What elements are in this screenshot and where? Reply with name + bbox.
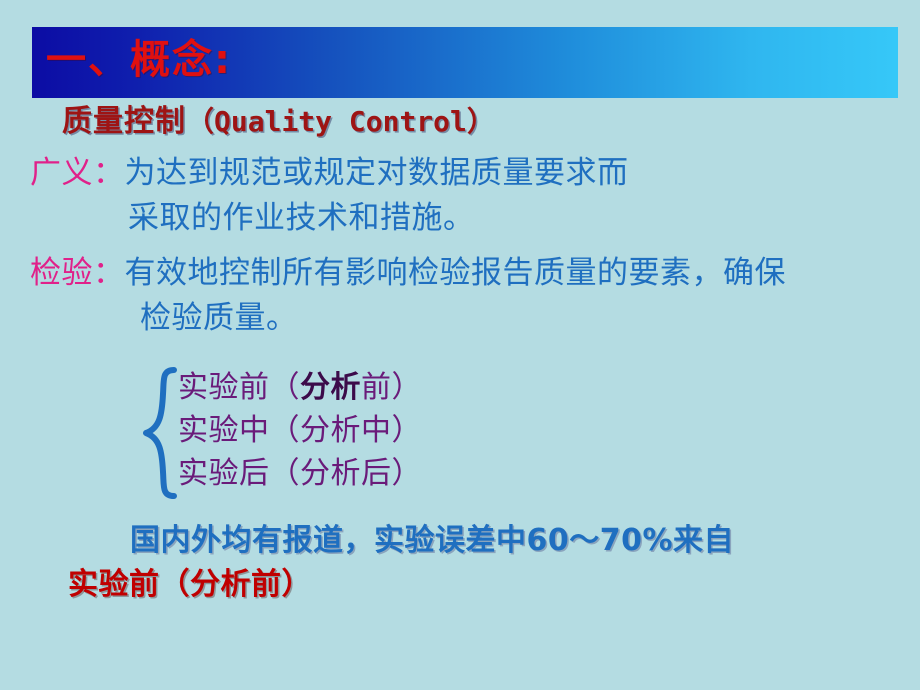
definition-broad-label: 广义： [30, 155, 125, 191]
phase-item-mid-text: 实验中（ [178, 413, 300, 448]
definition-inspection-label: 检验： [30, 255, 125, 291]
phase-item-pre-text: 实验前（ [178, 370, 300, 405]
conclusion-blue: 国内外均有报道，实验误差中60～70%来自 [130, 526, 734, 556]
slide-canvas: 一、概念: 质量控制（Quality Control） 广义：为达到规范或规定对… [0, 0, 920, 690]
phase-item-mid-post: 分析中） [300, 413, 422, 448]
definition-inspection-line2: 检验质量。 [140, 303, 298, 334]
definition-inspection-line1: 有效地控制所有影响检验报告质量的要素，确保 [125, 255, 787, 291]
phase-item-post-post: 分析后） [300, 456, 422, 491]
phase-brace-group: 实验前（分析前） 实验中（分析中） 实验后（分析后） [140, 366, 560, 501]
title-banner: 一、概念: [32, 27, 898, 98]
phase-item-pre: 实验前（分析前） [178, 366, 422, 409]
qc-heading-en: Quality Control [214, 105, 467, 138]
phase-list: 实验前（分析前） 实验中（分析中） 实验后（分析后） [178, 366, 422, 495]
definition-broad-line1: 为达到规范或规定对数据质量要求而 [125, 155, 629, 191]
definition-broad-line2: 采取的作业技术和措施。 [128, 203, 475, 234]
definition-broad: 广义：为达到规范或规定对数据质量要求而 [30, 158, 629, 189]
qc-heading-close-paren: ） [467, 105, 495, 138]
phase-item-post: 实验后（分析后） [178, 452, 422, 495]
phase-item-post-text: 实验后（ [178, 456, 300, 491]
qc-heading: 质量控制（Quality Control） [62, 107, 495, 137]
phase-item-pre-emph: 分析 [300, 370, 361, 405]
qc-heading-open-paren: （ [186, 105, 214, 138]
qc-heading-cn: 质量控制 [62, 104, 186, 139]
definition-inspection: 检验：有效地控制所有影响检验报告质量的要素，确保 [30, 258, 786, 289]
phase-item-mid: 实验中（分析中） [178, 409, 422, 452]
conclusion-red: 实验前（分析前） [68, 570, 312, 600]
slide-title: 一、概念: [46, 29, 232, 91]
phase-item-pre-post: 前） [361, 370, 422, 405]
